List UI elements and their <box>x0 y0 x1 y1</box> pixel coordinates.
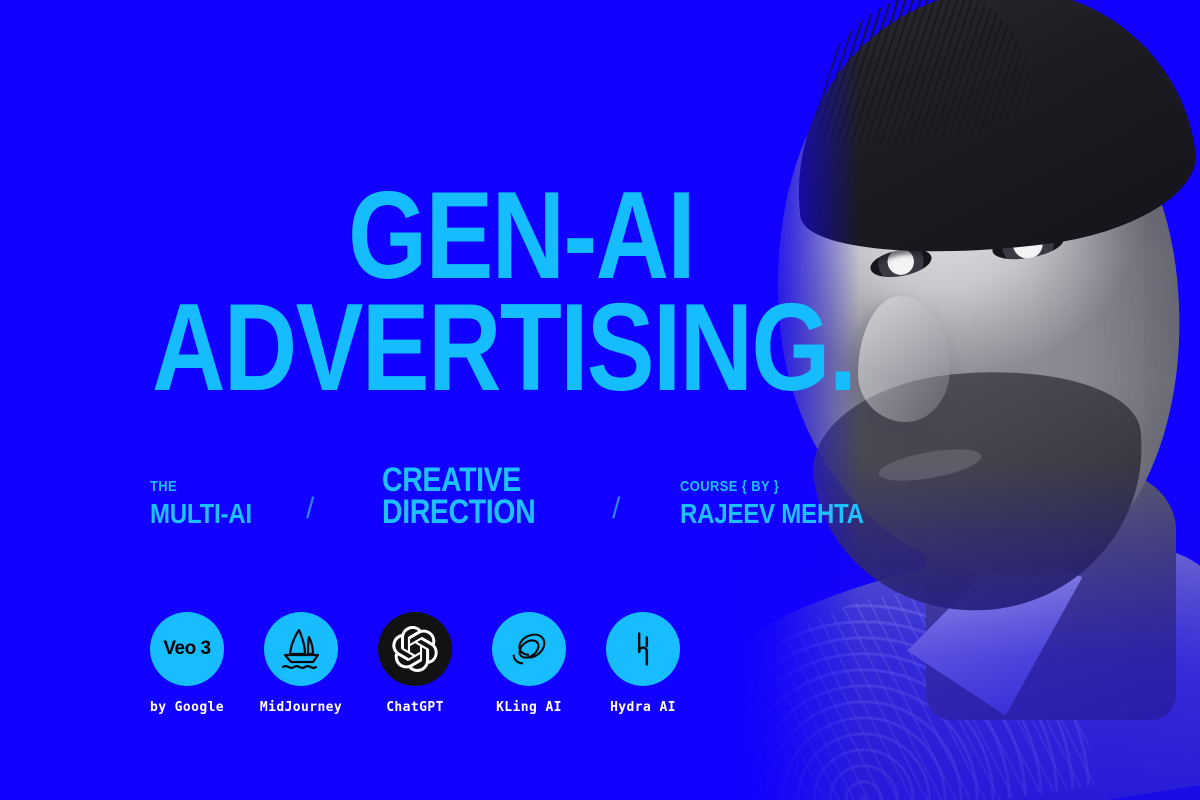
logo-item-kling[interactable]: KLing AI <box>492 612 566 715</box>
credit-center: CREATIVE DIRECTION <box>382 465 565 528</box>
veo-3-icon: Veo 3 <box>150 612 224 686</box>
logo-item-chatgpt[interactable]: ChatGPT <box>378 612 452 715</box>
credits-strip: THE MULTI-AI / CREATIVE DIRECTION / COUR… <box>150 448 850 534</box>
logo-item-veo3[interactable]: Veo 3 by Google <box>150 612 224 715</box>
credit-left-eyebrow: THE <box>150 479 252 494</box>
openai-knot-icon <box>378 612 452 686</box>
headline-line-1: GEN-AI <box>348 186 761 288</box>
credit-separator-1: / <box>306 492 314 526</box>
logo-item-hydra[interactable]: Hydra AI <box>606 612 680 715</box>
headline: GEN-AI ADVERTISING. <box>152 186 852 399</box>
poster-canvas: GEN-AI ADVERTISING. THE MULTI-AI / CREAT… <box>0 0 1200 800</box>
veo-3-badge-text: Veo 3 <box>163 638 210 660</box>
logo-label-hydra: Hydra AI <box>610 700 676 715</box>
tool-logo-row: Veo 3 by Google MidJourney ChatGPT <box>150 612 680 715</box>
hydra-ai-icon <box>606 612 680 686</box>
logo-item-midjourney[interactable]: MidJourney <box>264 612 338 715</box>
logo-label-midjourney: MidJourney <box>260 700 342 715</box>
credit-center-line-2: DIRECTION <box>382 497 535 528</box>
logo-label-veo3: by Google <box>150 700 224 715</box>
credit-left-main: MULTI-AI <box>150 500 252 528</box>
credit-right: COURSE { BY } RAJEEV MEHTA <box>680 479 894 528</box>
logo-label-kling: KLing AI <box>496 700 562 715</box>
logo-label-chatgpt: ChatGPT <box>386 700 444 715</box>
credit-right-main: RAJEEV MEHTA <box>680 500 864 528</box>
credit-right-eyebrow: COURSE { BY } <box>680 479 864 494</box>
credit-left: THE MULTI-AI <box>150 479 268 528</box>
kling-ai-icon <box>492 612 566 686</box>
credit-separator-2: / <box>612 492 620 526</box>
headline-line-2: ADVERTISING. <box>152 298 726 400</box>
midjourney-sailboat-icon <box>264 612 338 686</box>
